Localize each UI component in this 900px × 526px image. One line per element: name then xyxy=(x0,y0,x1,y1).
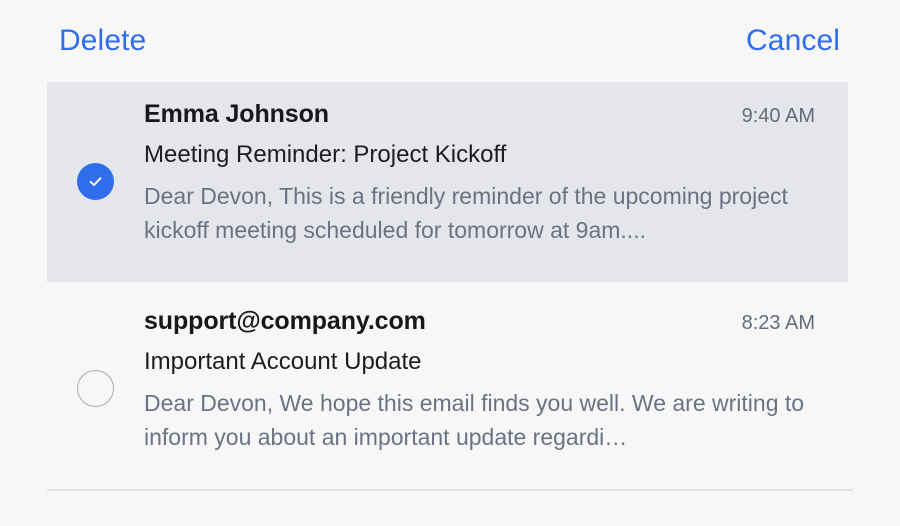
email-content: support@company.com 8:23 AM Important Ac… xyxy=(144,307,848,454)
delete-button[interactable]: Delete xyxy=(59,26,146,56)
email-timestamp: 8:23 AM xyxy=(742,311,815,335)
cancel-button[interactable]: Cancel xyxy=(746,26,840,56)
email-header-row: Emma Johnson 9:40 AM xyxy=(144,100,848,129)
row-gap xyxy=(0,282,900,289)
email-content: Emma Johnson 9:40 AM Meeting Reminder: P… xyxy=(144,100,848,247)
email-selection-screen: Delete Cancel Emma Johnson 9:40 AM Meeti… xyxy=(0,0,900,526)
email-sender: Emma Johnson xyxy=(144,100,329,129)
email-list-item[interactable]: Emma Johnson 9:40 AM Meeting Reminder: P… xyxy=(47,82,848,282)
selection-control-column xyxy=(47,100,144,262)
email-preview: Dear Devon, This is a friendly reminder … xyxy=(144,179,848,247)
email-subject: Meeting Reminder: Project Kickoff xyxy=(144,141,848,170)
selection-control-column xyxy=(47,307,144,469)
email-timestamp: 9:40 AM xyxy=(742,104,815,128)
circle-outline-icon[interactable] xyxy=(77,370,114,407)
email-subject: Important Account Update xyxy=(144,348,848,377)
email-sender: support@company.com xyxy=(144,307,426,336)
email-preview: Dear Devon, We hope this email finds you… xyxy=(144,386,848,454)
email-header-row: support@company.com 8:23 AM xyxy=(144,307,848,336)
email-list-item[interactable]: support@company.com 8:23 AM Important Ac… xyxy=(47,289,848,489)
list-divider xyxy=(47,489,853,491)
check-circle-filled-icon[interactable] xyxy=(77,163,114,200)
email-list: Emma Johnson 9:40 AM Meeting Reminder: P… xyxy=(0,82,900,491)
action-bar: Delete Cancel xyxy=(0,0,900,82)
